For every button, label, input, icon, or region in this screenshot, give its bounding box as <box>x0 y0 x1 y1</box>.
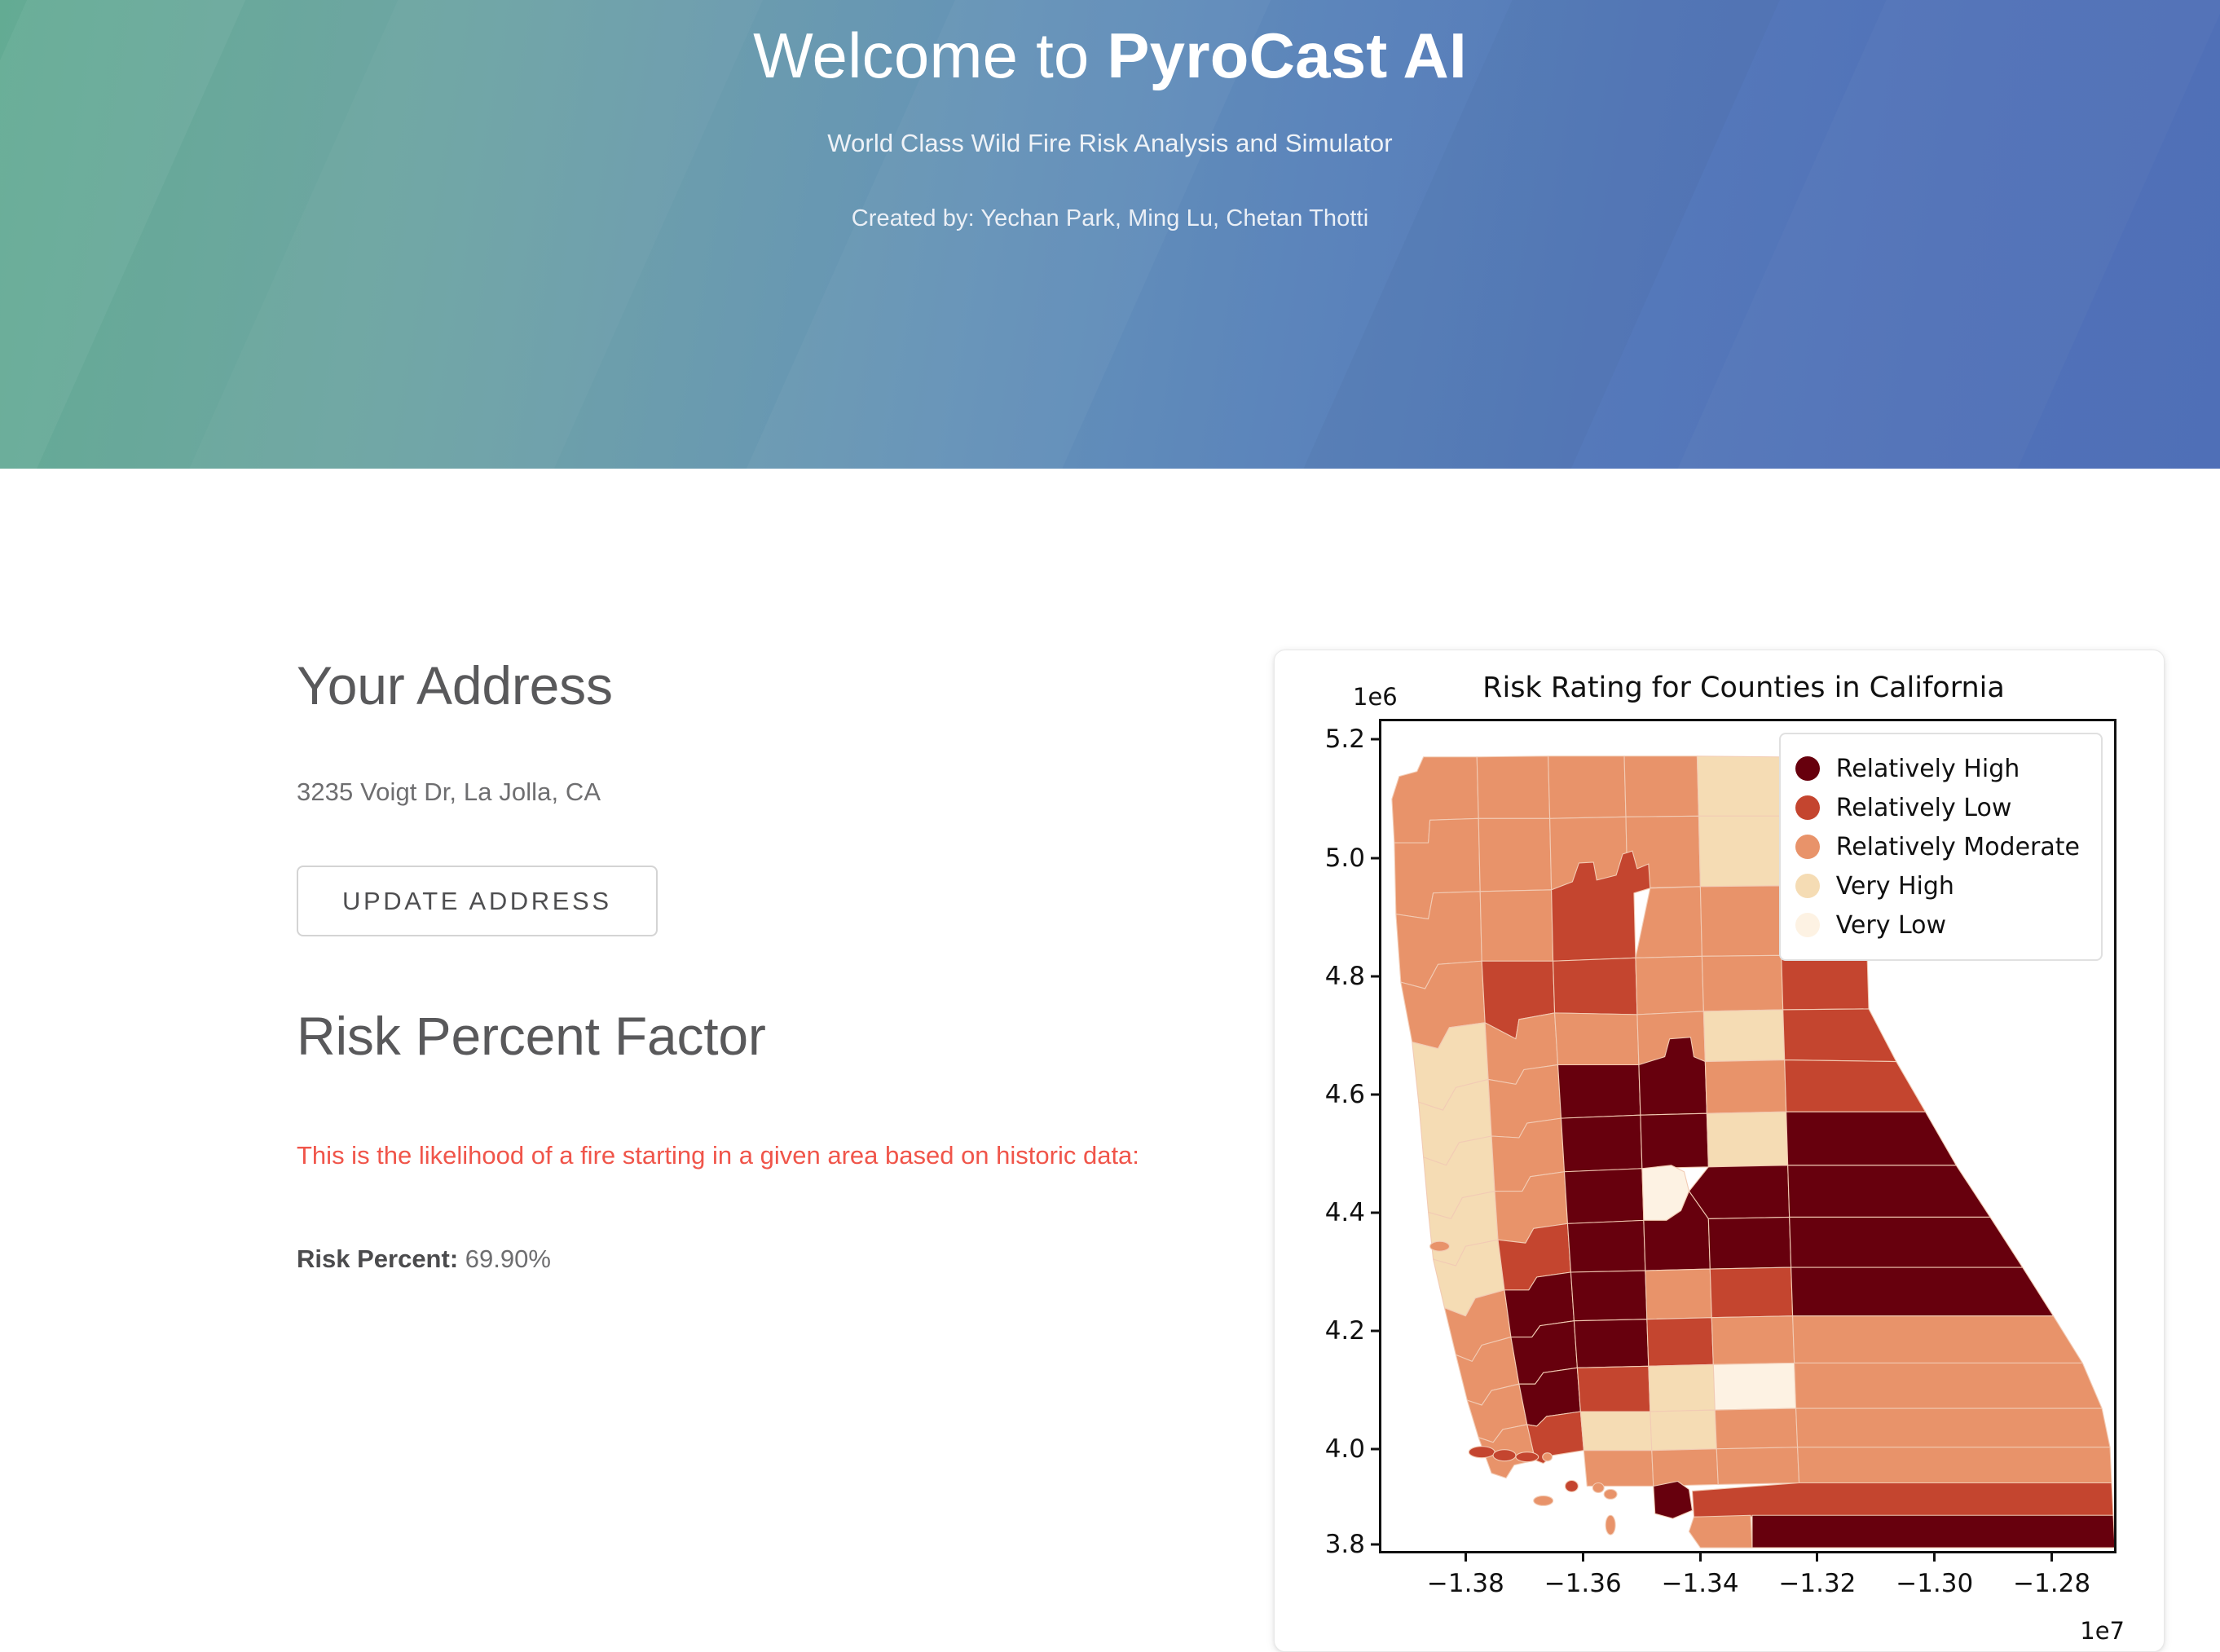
update-address-button[interactable]: UPDATE ADDRESS <box>297 866 658 936</box>
y-axis-tick: 4.8 <box>1325 962 1381 991</box>
risk-percent-label: Risk Percent: <box>297 1245 458 1273</box>
y-axis-tick: 3.8 <box>1325 1530 1381 1559</box>
address-value: 3235 Voigt Dr, La Jolla, CA <box>297 716 1193 807</box>
page-title-prefix: Welcome to <box>753 20 1107 91</box>
page-title-brand: PyroCast AI <box>1107 20 1466 91</box>
map-legend: Relatively High Relatively Low Relativel… <box>1779 733 2103 961</box>
x-axis-tick: −1.30 <box>1896 1551 1973 1598</box>
legend-swatch-relatively-low <box>1795 795 1820 820</box>
legend-swatch-relatively-moderate <box>1795 835 1820 859</box>
address-heading: Your Address <box>297 656 1193 716</box>
x-axis-tick: −1.36 <box>1544 1551 1622 1598</box>
y-axis-tick: 5.0 <box>1325 844 1381 873</box>
page-title: Welcome to PyroCast AI <box>0 18 2220 93</box>
legend-label: Very High <box>1836 872 1954 901</box>
legend-swatch-very-low <box>1795 913 1820 937</box>
chart-title: Risk Rating for Counties in California <box>1275 672 2164 704</box>
y-axis-tick: 5.2 <box>1325 725 1381 754</box>
legend-item: Relatively Low <box>1795 788 2080 827</box>
legend-label: Relatively High <box>1836 755 2020 783</box>
risk-map-card[interactable]: Risk Rating for Counties in California 1… <box>1274 650 2165 1652</box>
legend-label: Relatively Moderate <box>1836 833 2080 861</box>
legend-label: Relatively Low <box>1836 794 2012 822</box>
x-axis-tick: −1.34 <box>1662 1551 1739 1598</box>
x-axis-tick: −1.28 <box>2013 1551 2090 1598</box>
legend-item: Relatively Moderate <box>1795 827 2080 866</box>
risk-percent-row: Risk Percent: 69.90% <box>297 1176 1193 1274</box>
y-axis-tick: 4.6 <box>1325 1080 1381 1109</box>
risk-description: This is the likelihood of a fire startin… <box>297 1065 1177 1176</box>
hero-subtitle: World Class Wild Fire Risk Analysis and … <box>0 93 2220 158</box>
risk-heading: Risk Percent Factor <box>297 936 1193 1066</box>
legend-item: Very High <box>1795 866 2080 905</box>
plot-area: Relatively High Relatively Low Relativel… <box>1379 719 2116 1553</box>
x-axis-tick: −1.38 <box>1427 1551 1504 1598</box>
risk-percent-value: 69.90% <box>465 1245 551 1273</box>
main-content: Your Address 3235 Voigt Dr, La Jolla, CA… <box>0 469 2220 1615</box>
legend-item: Relatively High <box>1795 749 2080 788</box>
legend-swatch-relatively-high <box>1795 756 1820 781</box>
legend-item: Very Low <box>1795 905 2080 945</box>
risk-map-figure: Risk Rating for Counties in California 1… <box>1275 650 2164 1651</box>
y-axis-tick: 4.0 <box>1325 1434 1381 1464</box>
address-panel: Your Address 3235 Voigt Dr, La Jolla, CA… <box>297 656 1193 1274</box>
legend-swatch-very-high <box>1795 874 1820 898</box>
hero-content: Welcome to PyroCast AI World Class Wild … <box>0 0 2220 232</box>
y-axis-tick: 4.4 <box>1325 1198 1381 1227</box>
hero-banner: Welcome to PyroCast AI World Class Wild … <box>0 0 2220 469</box>
hero-credit: Created by: Yechan Park, Ming Lu, Chetan… <box>0 158 2220 232</box>
x-axis-tick: −1.32 <box>1778 1551 1856 1598</box>
legend-label: Very Low <box>1836 911 1946 940</box>
x-axis-offset-label: 1e7 <box>2080 1617 2125 1645</box>
y-axis-tick: 4.2 <box>1325 1316 1381 1346</box>
y-axis-offset-label: 1e6 <box>1353 683 1398 711</box>
